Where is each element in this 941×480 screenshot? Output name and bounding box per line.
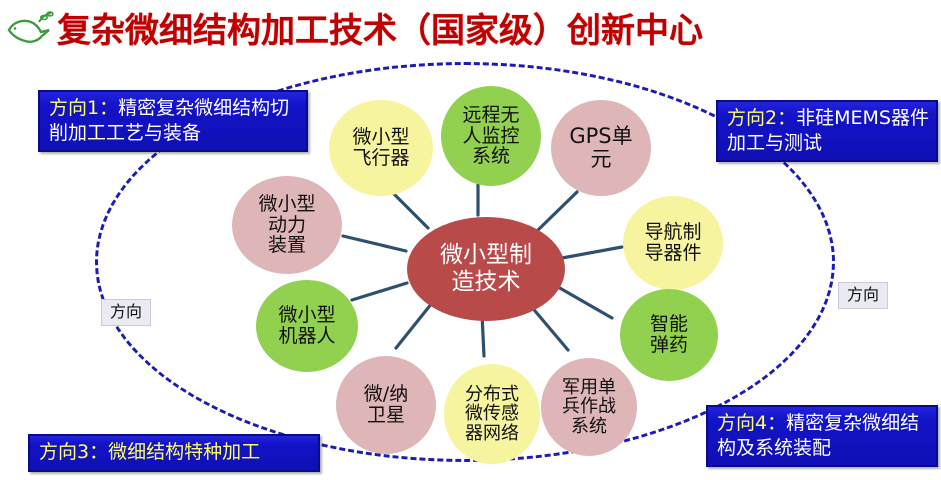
node-micro-power-device-label: 微小型 动力 装置 — [256, 194, 317, 256]
direction-box-3[interactable]: 方向3：微细结构特种加工 — [28, 434, 320, 472]
direction-chip-left[interactable]: 方向 — [101, 299, 151, 326]
node-micro-robot-label: 微小型 机器人 — [276, 305, 337, 346]
node-smart-ammunition[interactable]: 智能 弹药 — [620, 289, 718, 381]
node-distributed-sensor-net[interactable]: 分布式 微传感 器网络 — [444, 364, 540, 464]
slide-canvas: 复杂微细结构加工技术（国家级）创新中心 微小型 飞行器远程无 人监控 系统GPS… — [0, 0, 941, 480]
center-node-micro-manufacturing[interactable]: 微小型制 造技术 — [407, 217, 565, 321]
direction-chip-right[interactable]: 方向 — [838, 282, 888, 309]
page-title: 复杂微细结构加工技术（国家级）创新中心 — [57, 4, 703, 58]
direction-box-3-tag: 方向3： — [39, 441, 108, 463]
node-navigation-device[interactable]: 导航制 导器件 — [623, 196, 723, 290]
node-remote-monitoring[interactable]: 远程无 人监控 系统 — [441, 86, 541, 186]
direction-box-1[interactable]: 方向1：精密复杂微细结构切削加工工艺与装备 — [38, 90, 308, 152]
node-distributed-sensor-net-label: 分布式 微传感 器网络 — [463, 385, 521, 443]
node-soldier-combat-system-label: 军用单 兵作战 系统 — [560, 378, 618, 436]
slide-header: 复杂微细结构加工技术（国家级）创新中心 — [0, 0, 941, 66]
direction-box-2[interactable]: 方向2：非硅MEMS器件加工与测试 — [716, 100, 938, 162]
node-gps-unit[interactable]: GPS单 元 — [551, 100, 651, 196]
node-gps-unit-label: GPS单 元 — [567, 125, 634, 170]
node-micro-nano-satellite[interactable]: 微/纳 卫星 — [336, 356, 436, 454]
node-remote-monitoring-label: 远程无 人监控 系统 — [460, 105, 521, 167]
node-micro-power-device[interactable]: 微小型 动力 装置 — [232, 176, 342, 274]
node-micro-nano-satellite-label: 微/纳 卫星 — [362, 384, 410, 425]
node-smart-ammunition-label: 智能 弹药 — [648, 314, 690, 355]
direction-box-4-tag: 方向4： — [717, 412, 786, 434]
direction-box-1-tag: 方向1： — [49, 97, 118, 119]
node-navigation-device-label: 导航制 导器件 — [642, 222, 703, 263]
center-node-label: 微小型制 造技术 — [440, 242, 532, 295]
node-micro-aircraft-label: 微小型 飞行器 — [350, 127, 411, 168]
node-micro-robot[interactable]: 微小型 机器人 — [256, 280, 358, 372]
direction-box-4[interactable]: 方向4：精密复杂微细结构及系统装配 — [706, 405, 938, 467]
direction-box-2-tag: 方向2： — [727, 107, 796, 129]
node-micro-aircraft[interactable]: 微小型 飞行器 — [329, 100, 433, 196]
direction-box-3-text: 微细结构特种加工 — [108, 441, 260, 463]
dove-olive-branch-logo — [5, 8, 57, 52]
node-soldier-combat-system[interactable]: 军用单 兵作战 系统 — [541, 358, 637, 456]
